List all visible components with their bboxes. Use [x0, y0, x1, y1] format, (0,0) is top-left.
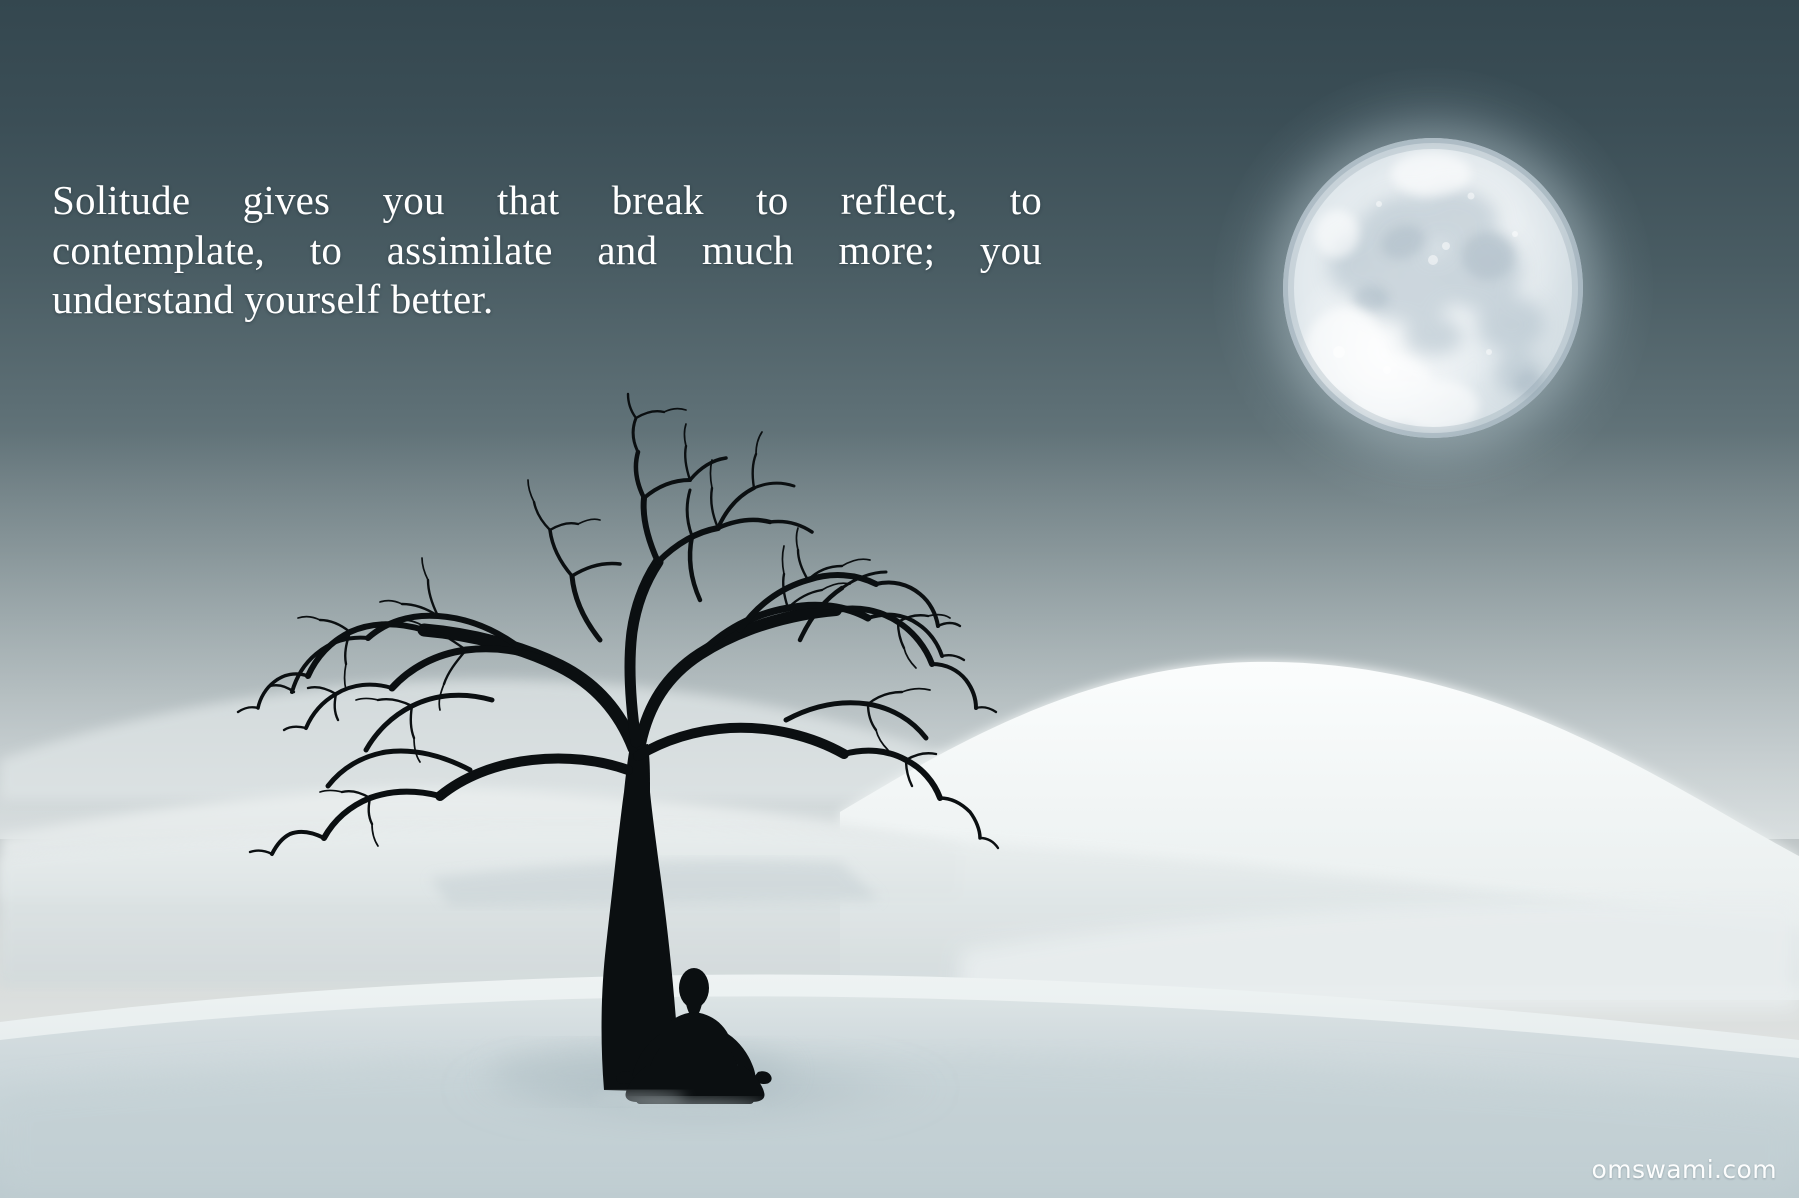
watermark-omswami: omswami.com	[1592, 1155, 1777, 1184]
quote-line-1: Solitude gives you that break to reflect…	[52, 176, 1042, 226]
quote-text: Solitude gives you that break to reflect…	[52, 176, 1042, 325]
quote-line-3: understand yourself better.	[52, 275, 1042, 325]
quote-image-canvas: Solitude gives you that break to reflect…	[0, 0, 1799, 1198]
quote-line-2: contemplate, to assimilate and much more…	[52, 226, 1042, 276]
